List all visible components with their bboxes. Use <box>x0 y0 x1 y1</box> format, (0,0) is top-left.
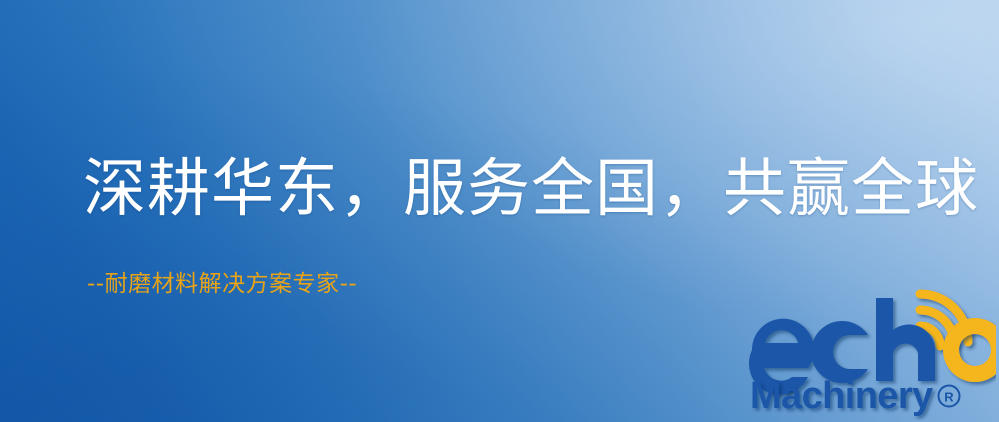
echo-machinery-logo: Machinery R <box>744 288 996 420</box>
registered-trademark-icon: R <box>939 386 960 407</box>
svg-text:R: R <box>944 390 954 405</box>
logo-tagline: Machinery <box>750 375 933 417</box>
banner-headline: 深耕华东，服务全国，共赢全球 <box>83 152 979 226</box>
logo-letter-c <box>811 321 868 383</box>
banner-subtitle: --耐磨材料解决方案专家-- <box>87 269 357 299</box>
promo-banner: 深耕华东，服务全国，共赢全球 --耐磨材料解决方案专家-- <box>0 0 999 422</box>
